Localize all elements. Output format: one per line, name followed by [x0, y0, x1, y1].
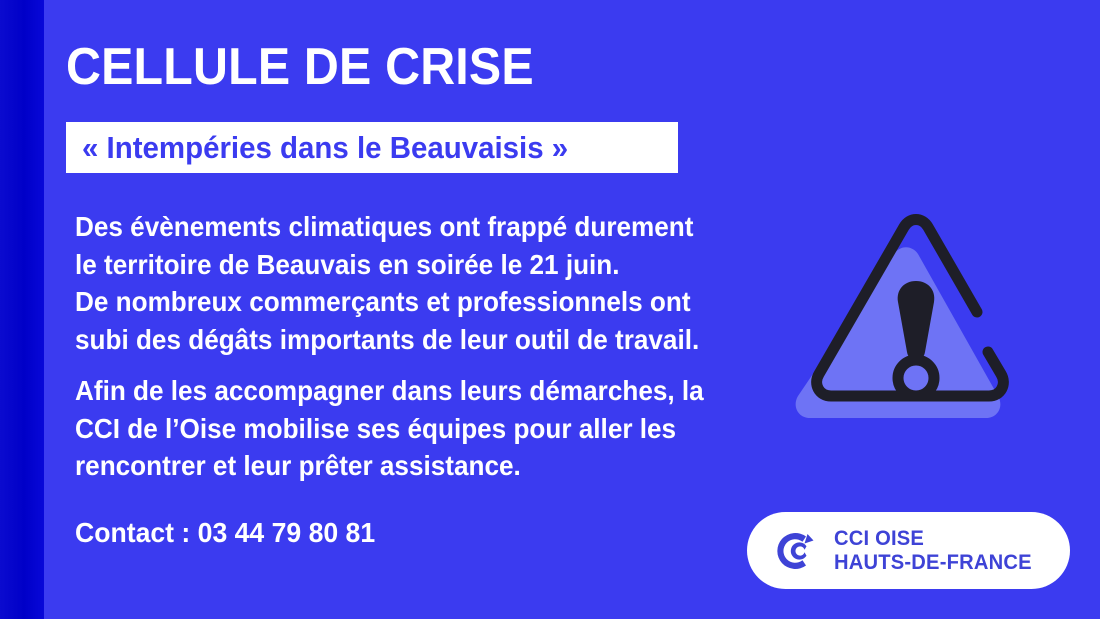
body-text-block: Des évènements climatiques ont frappé du… [75, 208, 785, 485]
paragraph-line: De nombreux commerçants et professionnel… [75, 283, 750, 321]
paragraph-line: subi des dégâts importants de leur outil… [75, 321, 750, 359]
logo-line-2: HAUTS-DE-FRANCE [834, 551, 1032, 575]
cci-circular-c-mark-icon [773, 528, 819, 574]
logo-line-1: CCI OISE [834, 527, 1032, 551]
paragraph-line: Des évènements climatiques ont frappé du… [75, 208, 750, 246]
contact-phone-line: Contact : 03 44 79 80 81 [75, 516, 375, 550]
paragraph-line: Afin de les accompagner dans leurs démar… [75, 372, 750, 410]
subtitle-banner: « Intempéries dans le Beauvaisis » [66, 122, 678, 173]
crisis-announcement-poster: CELLULE DE CRISE « Intempéries dans le B… [0, 0, 1100, 619]
left-accent-stripe [0, 0, 44, 619]
paragraph-line: le territoire de Beauvais en soirée le 2… [75, 246, 750, 284]
page-title: CELLULE DE CRISE [66, 38, 534, 96]
paragraph-1: Des évènements climatiques ont frappé du… [75, 208, 750, 358]
warning-triangle-icon [786, 208, 1052, 450]
text-content-column: CELLULE DE CRISE « Intempéries dans le B… [66, 0, 766, 619]
paragraph-2: Afin de les accompagner dans leurs démar… [75, 372, 750, 485]
cci-logo-text: CCI OISE HAUTS-DE-FRANCE [834, 527, 1040, 575]
cci-logo-badge: CCI OISE HAUTS-DE-FRANCE [747, 512, 1070, 589]
paragraph-line: rencontrer et leur prêter assistance. [75, 447, 750, 485]
paragraph-line: CCI de l’Oise mobilise ses équipes pour … [75, 410, 750, 448]
subtitle-text: « Intempéries dans le Beauvaisis » [82, 131, 568, 165]
